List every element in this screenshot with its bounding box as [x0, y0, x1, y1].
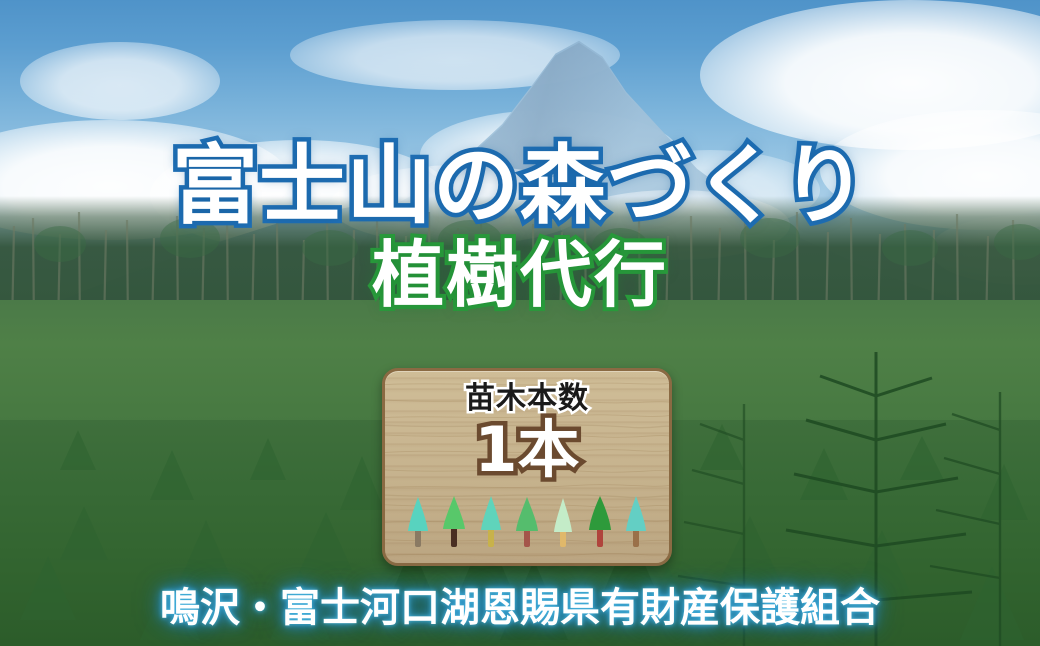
mini-tree-4-icon	[512, 493, 542, 549]
mini-tree-5-icon	[548, 493, 578, 549]
mini-tree-row	[403, 491, 651, 549]
mini-tree-1-icon	[403, 493, 433, 549]
mini-tree-6-icon	[585, 493, 615, 549]
mini-tree-7-icon	[621, 493, 651, 549]
mini-tree-3-icon	[476, 493, 506, 549]
seedling-count-label: 苗木本数	[385, 382, 669, 415]
mini-tree-2-icon	[439, 493, 469, 549]
poster-root: 富士山の森づくり 植樹代行 苗木本数 1本	[0, 0, 1040, 646]
seedling-count-value: 1本	[385, 417, 669, 482]
wooden-sign-board: 苗木本数 1本	[382, 368, 672, 566]
